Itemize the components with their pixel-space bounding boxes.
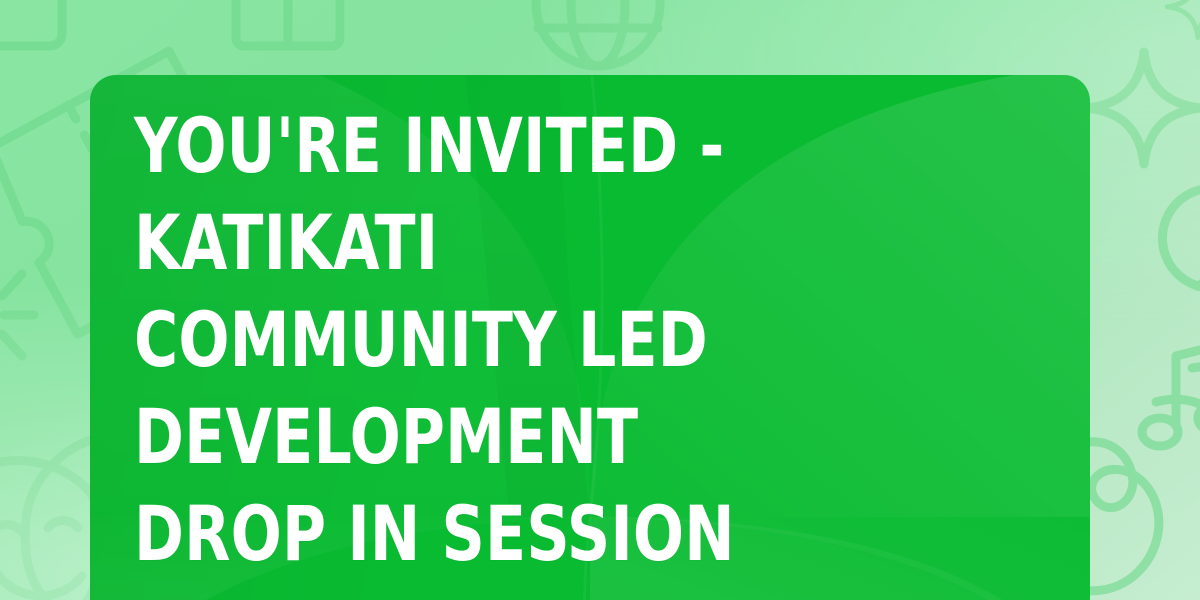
sparkle-icon xyxy=(1167,0,1200,38)
star-burst-icon xyxy=(0,250,34,380)
globe-icon xyxy=(536,0,660,66)
music-note-icon xyxy=(1142,342,1200,446)
event-card-content: YOU'RE INVITED - KATIKATI COMMUNITY LED … xyxy=(134,97,1050,600)
event-date-time: MON, 09 FEB, 2026 AT 05:00 AM xyxy=(134,582,940,600)
gift-icon xyxy=(228,0,348,46)
microphone-icon xyxy=(1142,168,1200,349)
event-card: YOU'RE INVITED - KATIKATI COMMUNITY LED … xyxy=(90,75,1090,600)
event-title: YOU'RE INVITED - KATIKATI COMMUNITY LED … xyxy=(134,97,940,582)
calendar-icon xyxy=(0,0,62,46)
sparkle-icon xyxy=(1088,52,1200,164)
event-invitation-banner: YOU'RE INVITED - KATIKATI COMMUNITY LED … xyxy=(0,0,1200,600)
